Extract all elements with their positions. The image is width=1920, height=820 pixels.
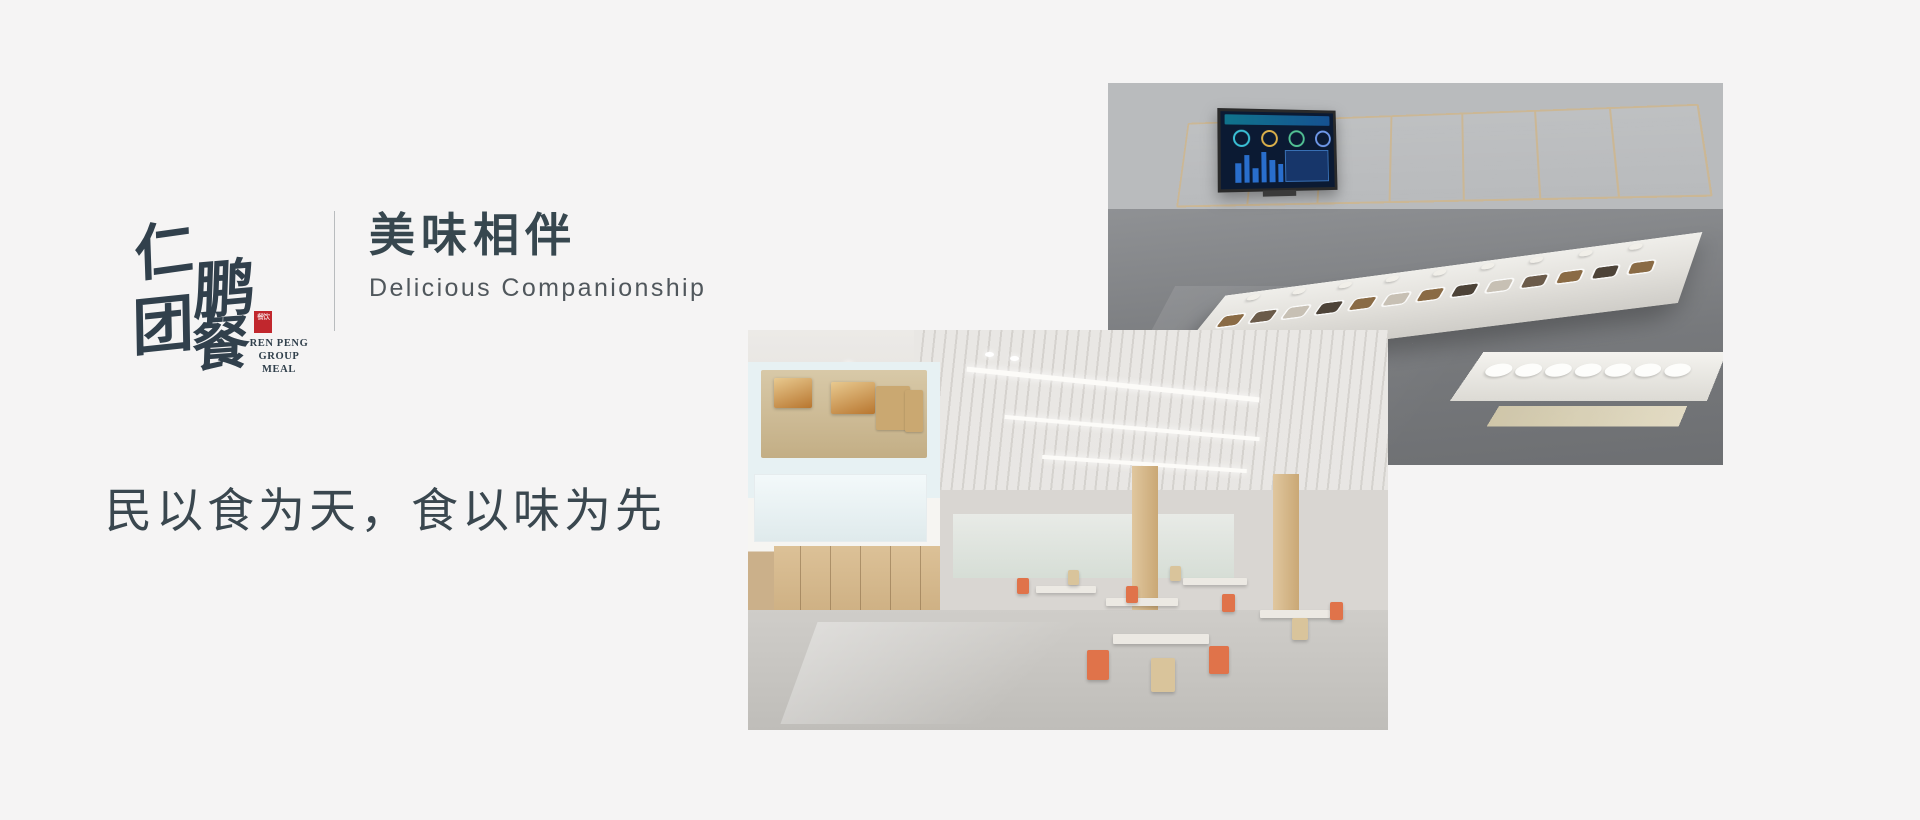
slogan-chinese: 美味相伴 xyxy=(369,209,706,262)
screen-gauge-3 xyxy=(1288,130,1305,147)
logo-english-line-3: MEAL xyxy=(244,363,314,376)
back-window-wall xyxy=(953,514,1235,578)
logo-english-line-1: REN PENG xyxy=(244,337,314,350)
dining-chair-9 xyxy=(1292,618,1308,640)
dining-chair-6 xyxy=(1087,650,1109,680)
dining-chair-4 xyxy=(1170,566,1181,581)
dining-table-5 xyxy=(1260,610,1330,618)
plate-shelf xyxy=(1450,352,1723,401)
slogan-english: Delicious Companionship xyxy=(369,274,706,303)
ceiling-downlight-1 xyxy=(985,352,994,357)
screen-bar-chart xyxy=(1227,150,1284,183)
menu-photo-1 xyxy=(774,378,812,408)
screen-gauge-1 xyxy=(1233,130,1250,147)
screen-gauge-4 xyxy=(1315,131,1331,148)
dining-table-4 xyxy=(1113,634,1209,644)
dining-chair-7 xyxy=(1151,658,1175,692)
dining-chair-2 xyxy=(1068,570,1079,585)
screen-mount xyxy=(1263,190,1296,197)
logo-mark: 仁 鹏 团 餐 餐饮 REN PENG GROUP MEAL xyxy=(132,205,312,365)
canteen-interior-image xyxy=(748,330,1388,730)
screen-side-panel xyxy=(1285,150,1329,182)
screen-gauge-2 xyxy=(1261,130,1278,147)
headline-text: 民以食为天，食以味为先 xyxy=(105,472,666,541)
dining-chair-1 xyxy=(1017,578,1029,594)
counter-glass-shield xyxy=(754,474,927,542)
dining-chair-10 xyxy=(1330,602,1343,620)
menu-tag-2 xyxy=(905,390,923,432)
logo-glyph-tuan: 团 xyxy=(131,272,194,369)
red-seal-icon: 餐饮 xyxy=(254,311,272,333)
brand-lockup: 仁 鹏 团 餐 餐饮 REN PENG GROUP MEAL 美味相伴 Deli… xyxy=(132,205,706,365)
seal-glyph: 餐饮 xyxy=(254,313,272,322)
logo-glyph-can: 餐 xyxy=(191,295,252,383)
structural-column-2 xyxy=(1273,474,1299,610)
digital-menu-screen xyxy=(1217,108,1337,193)
logo-calligraphy: 仁 鹏 团 餐 xyxy=(132,197,282,357)
dining-table-1 xyxy=(1036,586,1096,593)
logo-english-line-2: GROUP xyxy=(244,350,314,363)
dining-chair-8 xyxy=(1209,646,1229,674)
dining-table-3 xyxy=(1183,578,1247,585)
dining-table-2 xyxy=(1106,598,1178,606)
vertical-divider xyxy=(334,211,335,331)
logo-english-text: REN PENG GROUP MEAL xyxy=(244,337,314,376)
counter-back-panel xyxy=(1487,406,1688,426)
dining-chair-5 xyxy=(1222,594,1235,612)
menu-photo-2 xyxy=(831,382,875,414)
screen-header-bar xyxy=(1225,114,1330,126)
brand-slogan-block: 美味相伴 Delicious Companionship xyxy=(369,205,706,303)
dining-chair-3 xyxy=(1126,586,1138,603)
page-root: 仁 鹏 团 餐 餐饮 REN PENG GROUP MEAL 美味相伴 Deli… xyxy=(0,0,1920,820)
